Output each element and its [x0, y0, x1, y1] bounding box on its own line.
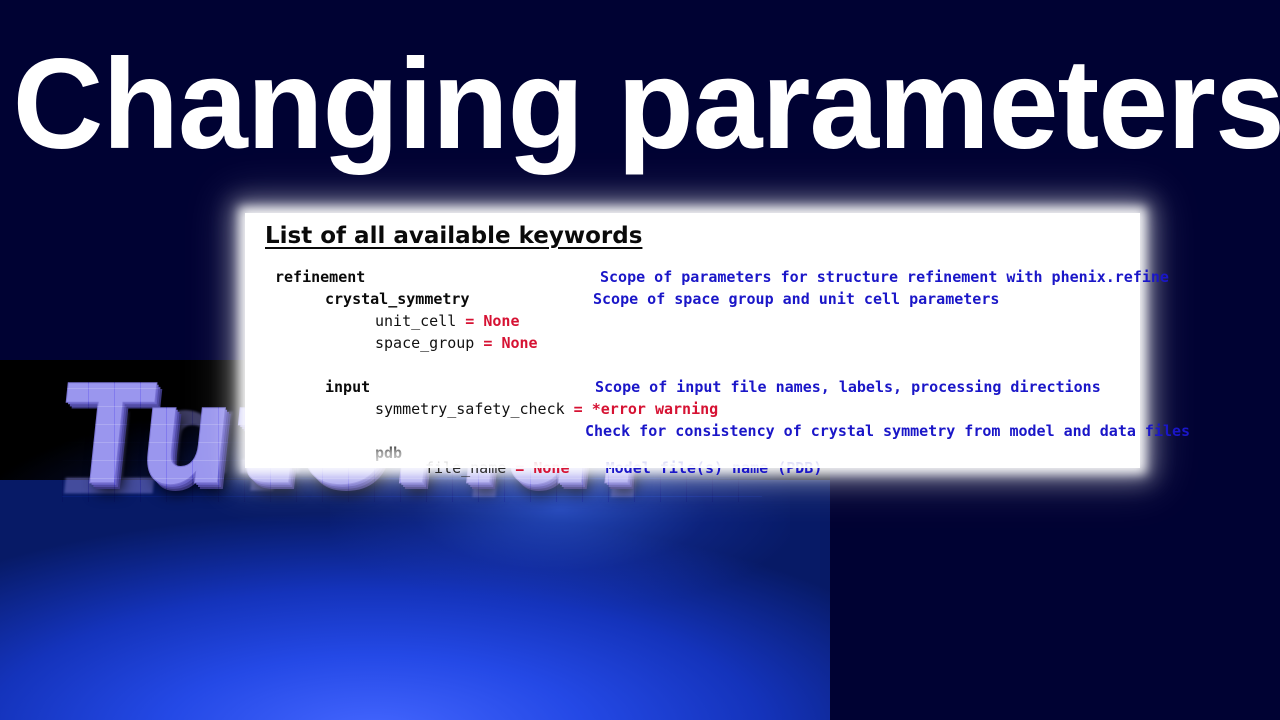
parameter-row: refinementScope of parameters for struct… [245, 268, 1140, 290]
page-title: Changing parameters [13, 30, 1267, 180]
panel-heading: List of all available keywords [265, 223, 642, 249]
parameter-value: None [501, 334, 537, 352]
parameter-description: Scope of space group and unit cell param… [593, 290, 999, 308]
parameter-description: Check for consistency of crystal symmetr… [585, 422, 1190, 440]
parameter-row: inputScope of input file names, labels, … [245, 378, 1140, 400]
parameter-row [245, 356, 1140, 378]
parameter-description: Scope of parameters for structure refine… [600, 268, 1169, 286]
parameter-equals: = [456, 312, 483, 330]
parameter-assignment: unit_cell = None [375, 312, 520, 330]
last-parameter-equals: = [506, 459, 533, 477]
last-parameter-gap [570, 459, 606, 477]
parameter-equals: = [565, 400, 592, 418]
slide-root: Changing parameters Tutorial Tutorial Li… [0, 0, 1280, 720]
parameter-assignment: symmetry_safety_check = *error warning [375, 400, 718, 418]
parameter-name: unit_cell [375, 312, 456, 330]
parameter-equals: = [474, 334, 501, 352]
keyword-list-panel: List of all available keywords refinemen… [245, 213, 1140, 468]
parameter-list: refinementScope of parameters for struct… [245, 268, 1140, 466]
last-parameter-row: file_name = None Model file(s) name (PDB… [425, 459, 822, 477]
parameter-row: space_group = None [245, 334, 1140, 356]
scope-name: refinement [275, 268, 365, 286]
last-parameter-value: None [533, 459, 569, 477]
last-parameter-name: file_name [425, 459, 506, 477]
parameter-description: Scope of input file names, labels, proce… [595, 378, 1101, 396]
scope-name: crystal_symmetry [325, 290, 470, 308]
last-parameter-row-wrap: file_name = None Model file(s) name (PDB… [245, 453, 1140, 487]
parameter-assignment: space_group = None [375, 334, 538, 352]
parameter-name: space_group [375, 334, 474, 352]
parameter-row: unit_cell = None [245, 312, 1140, 334]
parameter-row: crystal_symmetryScope of space group and… [245, 290, 1140, 312]
parameter-value: *error warning [592, 400, 718, 418]
parameter-row: Check for consistency of crystal symmetr… [245, 422, 1140, 444]
parameter-row: symmetry_safety_check = *error warning [245, 400, 1140, 422]
last-parameter-description: Model file(s) name (PDB) [606, 459, 823, 477]
parameter-value: None [483, 312, 519, 330]
parameter-name: symmetry_safety_check [375, 400, 565, 418]
scope-name: input [325, 378, 370, 396]
